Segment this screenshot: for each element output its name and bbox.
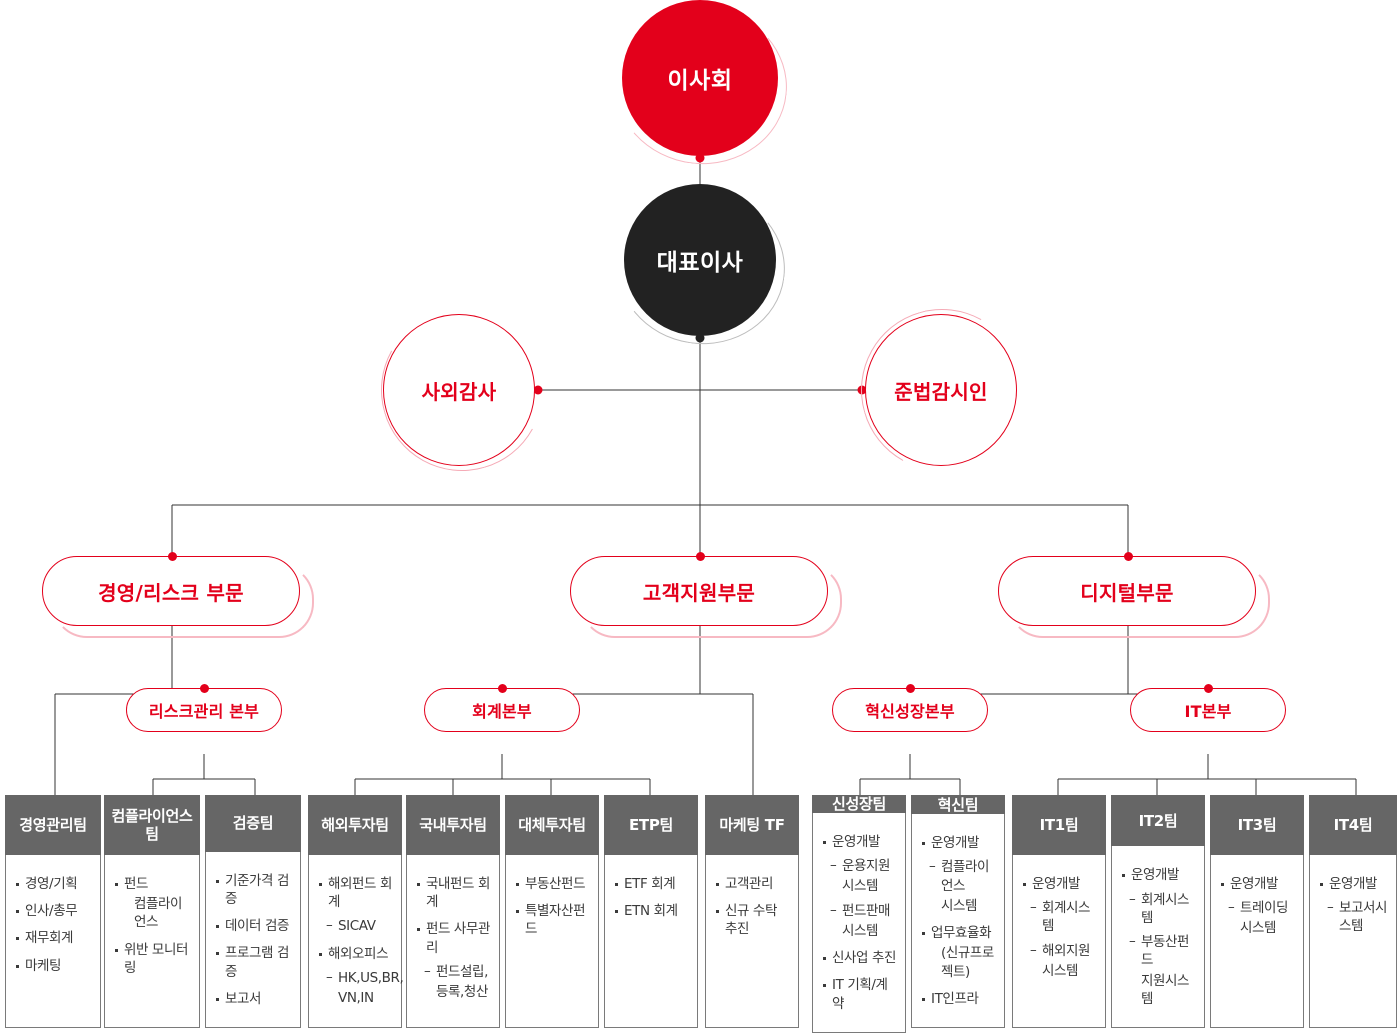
team-card-body: 부동산펀드특별자산펀드 — [505, 855, 599, 1028]
team-card-body: 운영개발회계시스템부동산펀드지원시스템 — [1111, 846, 1205, 1028]
node-division-management-risk-label: 경영/리스크 부문 — [98, 577, 244, 606]
node-hq-innovation-growth-label: 혁신성장본부 — [865, 698, 955, 722]
team-card[interactable]: 국내투자팀국내펀드 회계펀드 사무관리펀드설립,등록,청산 — [406, 795, 500, 1028]
division-2-dot — [1124, 552, 1133, 561]
team-card-header: 마케팅 TF — [705, 795, 799, 855]
team-duty-list: 국내펀드 회계펀드 사무관리펀드설립,등록,청산 — [417, 875, 491, 1001]
team-card[interactable]: IT2팀운영개발회계시스템부동산펀드지원시스템 — [1111, 795, 1205, 1028]
team-duty-item: 시스템 — [922, 897, 996, 915]
node-hq-risk-management-label: 리스크관리 본부 — [149, 698, 259, 722]
team-duty-item: 펀드 사무관리 — [417, 920, 491, 956]
team-card[interactable]: IT3팀운영개발트레이딩시스템 — [1210, 795, 1304, 1028]
team-duty-item: 고객관리 — [716, 875, 790, 893]
team-card-body: 기준가격 검증데이터 검증프로그램 검증보고서 — [205, 852, 301, 1028]
hq-0-dot — [200, 684, 209, 693]
team-duty-item: 마케팅 — [16, 957, 92, 975]
node-hq-accounting-label: 회계본부 — [472, 698, 532, 722]
team-card-header: 신성장팀 — [812, 795, 906, 813]
team-duty-item: 기준가격 검증 — [216, 872, 292, 908]
node-board-label: 이사회 — [668, 61, 733, 95]
team-duty-list: 경영/기획인사/총무재무회계마케팅 — [16, 875, 92, 975]
team-card[interactable]: 컴플라이언스팀펀드컴플라이언스위반 모니터링 — [104, 795, 200, 1028]
node-compliance-officer-label: 준법감시인 — [894, 376, 988, 405]
team-duty-item: 펀드판매 — [823, 902, 897, 920]
team-duty-item: 특별자산펀드 — [516, 902, 590, 938]
team-duty-item: 회계시스템 — [1122, 891, 1196, 927]
division-1-dot — [696, 552, 705, 561]
team-duty-item: 보고서시스템 — [1320, 899, 1388, 935]
node-hq-accounting[interactable]: 회계본부 — [424, 688, 580, 732]
team-card[interactable]: 검증팀기준가격 검증데이터 검증프로그램 검증보고서 — [205, 795, 301, 1028]
hq-1-dot — [498, 684, 507, 693]
team-duty-item: 펀드설립, — [417, 963, 491, 981]
team-duty-list: 기준가격 검증데이터 검증프로그램 검증보고서 — [216, 872, 292, 1008]
team-duty-list: 해외펀드 회계SICAV해외오피스HK,US,BR,VN,IN — [319, 875, 393, 1007]
team-card[interactable]: IT1팀운영개발회계시스템해외지원시스템 — [1012, 795, 1106, 1028]
team-duty-item: VN,IN — [319, 989, 393, 1007]
team-duty-item: 시스템 — [823, 922, 897, 940]
hq-2-dot — [906, 684, 915, 693]
team-card-body: 해외펀드 회계SICAV해외오피스HK,US,BR,VN,IN — [308, 855, 402, 1028]
org-chart: 이사회 대표이사 사외감사 준법감시인 경영/리스크 부문 고객지원부문 디지털… — [0, 0, 1400, 1028]
hq-3-dot — [1204, 684, 1213, 693]
team-duty-list: 운영개발트레이딩시스템 — [1221, 875, 1295, 938]
team-duty-item: 위반 모니터링 — [115, 941, 191, 977]
team-duty-item: 운영개발 — [823, 833, 897, 851]
team-card-header: IT2팀 — [1111, 795, 1205, 846]
team-duty-item: 시스템 — [823, 877, 897, 895]
team-duty-list: 고객관리신규 수탁 추진 — [716, 875, 790, 939]
team-card[interactable]: 대체투자팀부동산펀드특별자산펀드 — [505, 795, 599, 1028]
team-card-header: 국내투자팀 — [406, 795, 500, 855]
team-duty-item: 신사업 추진 — [823, 949, 897, 967]
team-duty-item: IT인프라 — [922, 990, 996, 1008]
node-external-auditor-label: 사외감사 — [422, 376, 497, 405]
team-card[interactable]: ETP팀ETF 회계ETN 회계 — [604, 795, 698, 1028]
team-duty-item: 시스템 — [1221, 919, 1295, 937]
node-hq-innovation-growth[interactable]: 혁신성장본부 — [832, 688, 988, 732]
node-ceo[interactable]: 대표이사 — [624, 184, 776, 336]
team-duty-item: 경영/기획 — [16, 875, 92, 893]
team-duty-item: 해외지원 — [1023, 942, 1097, 960]
node-external-auditor[interactable]: 사외감사 — [383, 314, 535, 466]
team-duty-item: 인사/총무 — [16, 902, 92, 920]
team-card-body: 운영개발운용지원시스템펀드판매시스템신사업 추진IT 기획/계약 — [812, 813, 906, 1033]
team-card-body: 운영개발컴플라이언스시스템업무효율화(신규프로젝트)IT인프라 — [911, 814, 1005, 1028]
node-hq-it-label: IT본부 — [1184, 698, 1231, 722]
team-card-body: 운영개발트레이딩시스템 — [1210, 855, 1304, 1028]
team-duty-list: 운영개발회계시스템부동산펀드지원시스템 — [1122, 866, 1196, 1008]
team-card-header: IT1팀 — [1012, 795, 1106, 855]
team-card[interactable]: 신성장팀운영개발운용지원시스템펀드판매시스템신사업 추진IT 기획/계약 — [812, 795, 906, 1028]
team-duty-item: 재무회계 — [16, 929, 92, 947]
team-duty-item: 부동산펀드 — [516, 875, 590, 893]
team-duty-item: ETF 회계 — [615, 875, 689, 893]
node-division-client-support[interactable]: 고객지원부문 — [570, 556, 828, 626]
team-duty-item: 컴플라이언스 — [922, 858, 996, 894]
team-duty-item: 해외펀드 회계 — [319, 875, 393, 911]
team-duty-item: 컴플라이언스 — [115, 895, 191, 931]
node-division-client-support-label: 고객지원부문 — [643, 577, 755, 606]
team-duty-item: 운영개발 — [1221, 875, 1295, 893]
team-duty-item: 운용지원 — [823, 857, 897, 875]
node-compliance-officer[interactable]: 준법감시인 — [865, 314, 1017, 466]
team-duty-item: IT 기획/계약 — [823, 976, 897, 1012]
team-duty-item: 회계시스템 — [1023, 899, 1097, 935]
team-duty-item: 프로그램 검증 — [216, 944, 292, 980]
team-card-header: 혁신팀 — [911, 795, 1005, 814]
team-card-body: 펀드컴플라이언스위반 모니터링 — [104, 855, 200, 1028]
team-duty-list: 운영개발회계시스템해외지원시스템 — [1023, 875, 1097, 980]
team-card-body: 운영개발회계시스템해외지원시스템 — [1012, 855, 1106, 1028]
team-duty-item: 신규 수탁 추진 — [716, 902, 790, 938]
team-card-body: 경영/기획인사/총무재무회계마케팅 — [5, 855, 101, 1028]
team-duty-item: 국내펀드 회계 — [417, 875, 491, 911]
node-division-digital[interactable]: 디지털부문 — [998, 556, 1256, 626]
team-duty-item: 보고서 — [216, 990, 292, 1008]
team-duty-item: 지원시스템 — [1122, 972, 1196, 1008]
team-duty-item: 트레이딩 — [1221, 899, 1295, 917]
node-hq-it[interactable]: IT본부 — [1130, 688, 1286, 732]
node-ceo-label: 대표이사 — [657, 243, 744, 277]
team-card[interactable]: 경영관리팀경영/기획인사/총무재무회계마케팅 — [5, 795, 101, 1028]
team-duty-item: 시스템 — [1023, 962, 1097, 980]
team-duty-list: 운영개발운용지원시스템펀드판매시스템신사업 추진IT 기획/계약 — [823, 833, 897, 1013]
team-duty-item: 운영개발 — [1122, 866, 1196, 884]
division-0-dot — [168, 552, 177, 561]
team-card-body: 운영개발보고서시스템 — [1309, 855, 1397, 1028]
team-card-header: 해외투자팀 — [308, 795, 402, 855]
team-duty-item: 펀드 — [115, 875, 191, 893]
team-duty-list: 부동산펀드특별자산펀드 — [516, 875, 590, 939]
team-duty-item: 업무효율화 — [922, 924, 996, 942]
team-card-header: 컴플라이언스팀 — [104, 795, 200, 855]
team-card[interactable]: 혁신팀운영개발컴플라이언스시스템업무효율화(신규프로젝트)IT인프라 — [911, 795, 1005, 1028]
team-card-header: ETP팀 — [604, 795, 698, 855]
team-card-header: 대체투자팀 — [505, 795, 599, 855]
team-duty-item: 부동산펀드 — [1122, 933, 1196, 969]
node-division-management-risk[interactable]: 경영/리스크 부문 — [42, 556, 300, 626]
team-duty-item: (신규프로젝트) — [922, 944, 996, 980]
team-duty-list: 펀드컴플라이언스위반 모니터링 — [115, 875, 191, 977]
team-duty-item: 해외오피스 — [319, 945, 393, 963]
team-card[interactable]: IT4팀운영개발보고서시스템 — [1309, 795, 1397, 1028]
team-card-header: 경영관리팀 — [5, 795, 101, 855]
node-division-digital-label: 디지털부문 — [1080, 577, 1174, 606]
node-hq-risk-management[interactable]: 리스크관리 본부 — [126, 688, 282, 732]
team-card[interactable]: 해외투자팀해외펀드 회계SICAV해외오피스HK,US,BR,VN,IN — [308, 795, 402, 1028]
team-duty-item: SICAV — [319, 917, 393, 935]
team-card-body: 국내펀드 회계펀드 사무관리펀드설립,등록,청산 — [406, 855, 500, 1028]
team-card-body: ETF 회계ETN 회계 — [604, 855, 698, 1028]
team-duty-item: 데이터 검증 — [216, 917, 292, 935]
team-duty-item: HK,US,BR, — [319, 969, 393, 987]
team-card-header: IT3팀 — [1210, 795, 1304, 855]
team-card-header: 검증팀 — [205, 795, 301, 852]
team-card-header: IT4팀 — [1309, 795, 1397, 855]
team-duty-item: 운영개발 — [1320, 875, 1388, 893]
team-duty-list: ETF 회계ETN 회계 — [615, 875, 689, 920]
team-duty-list: 운영개발컴플라이언스시스템업무효율화(신규프로젝트)IT인프라 — [922, 834, 996, 1008]
team-duty-list: 운영개발보고서시스템 — [1320, 875, 1388, 936]
team-duty-item: 운영개발 — [1023, 875, 1097, 893]
node-board[interactable]: 이사회 — [622, 0, 778, 156]
team-card[interactable]: 마케팅 TF고객관리신규 수탁 추진 — [705, 795, 799, 1028]
team-duty-item: ETN 회계 — [615, 902, 689, 920]
team-card-body: 고객관리신규 수탁 추진 — [705, 855, 799, 1028]
team-duty-item: 등록,청산 — [417, 983, 491, 1001]
team-duty-item: 운영개발 — [922, 834, 996, 852]
